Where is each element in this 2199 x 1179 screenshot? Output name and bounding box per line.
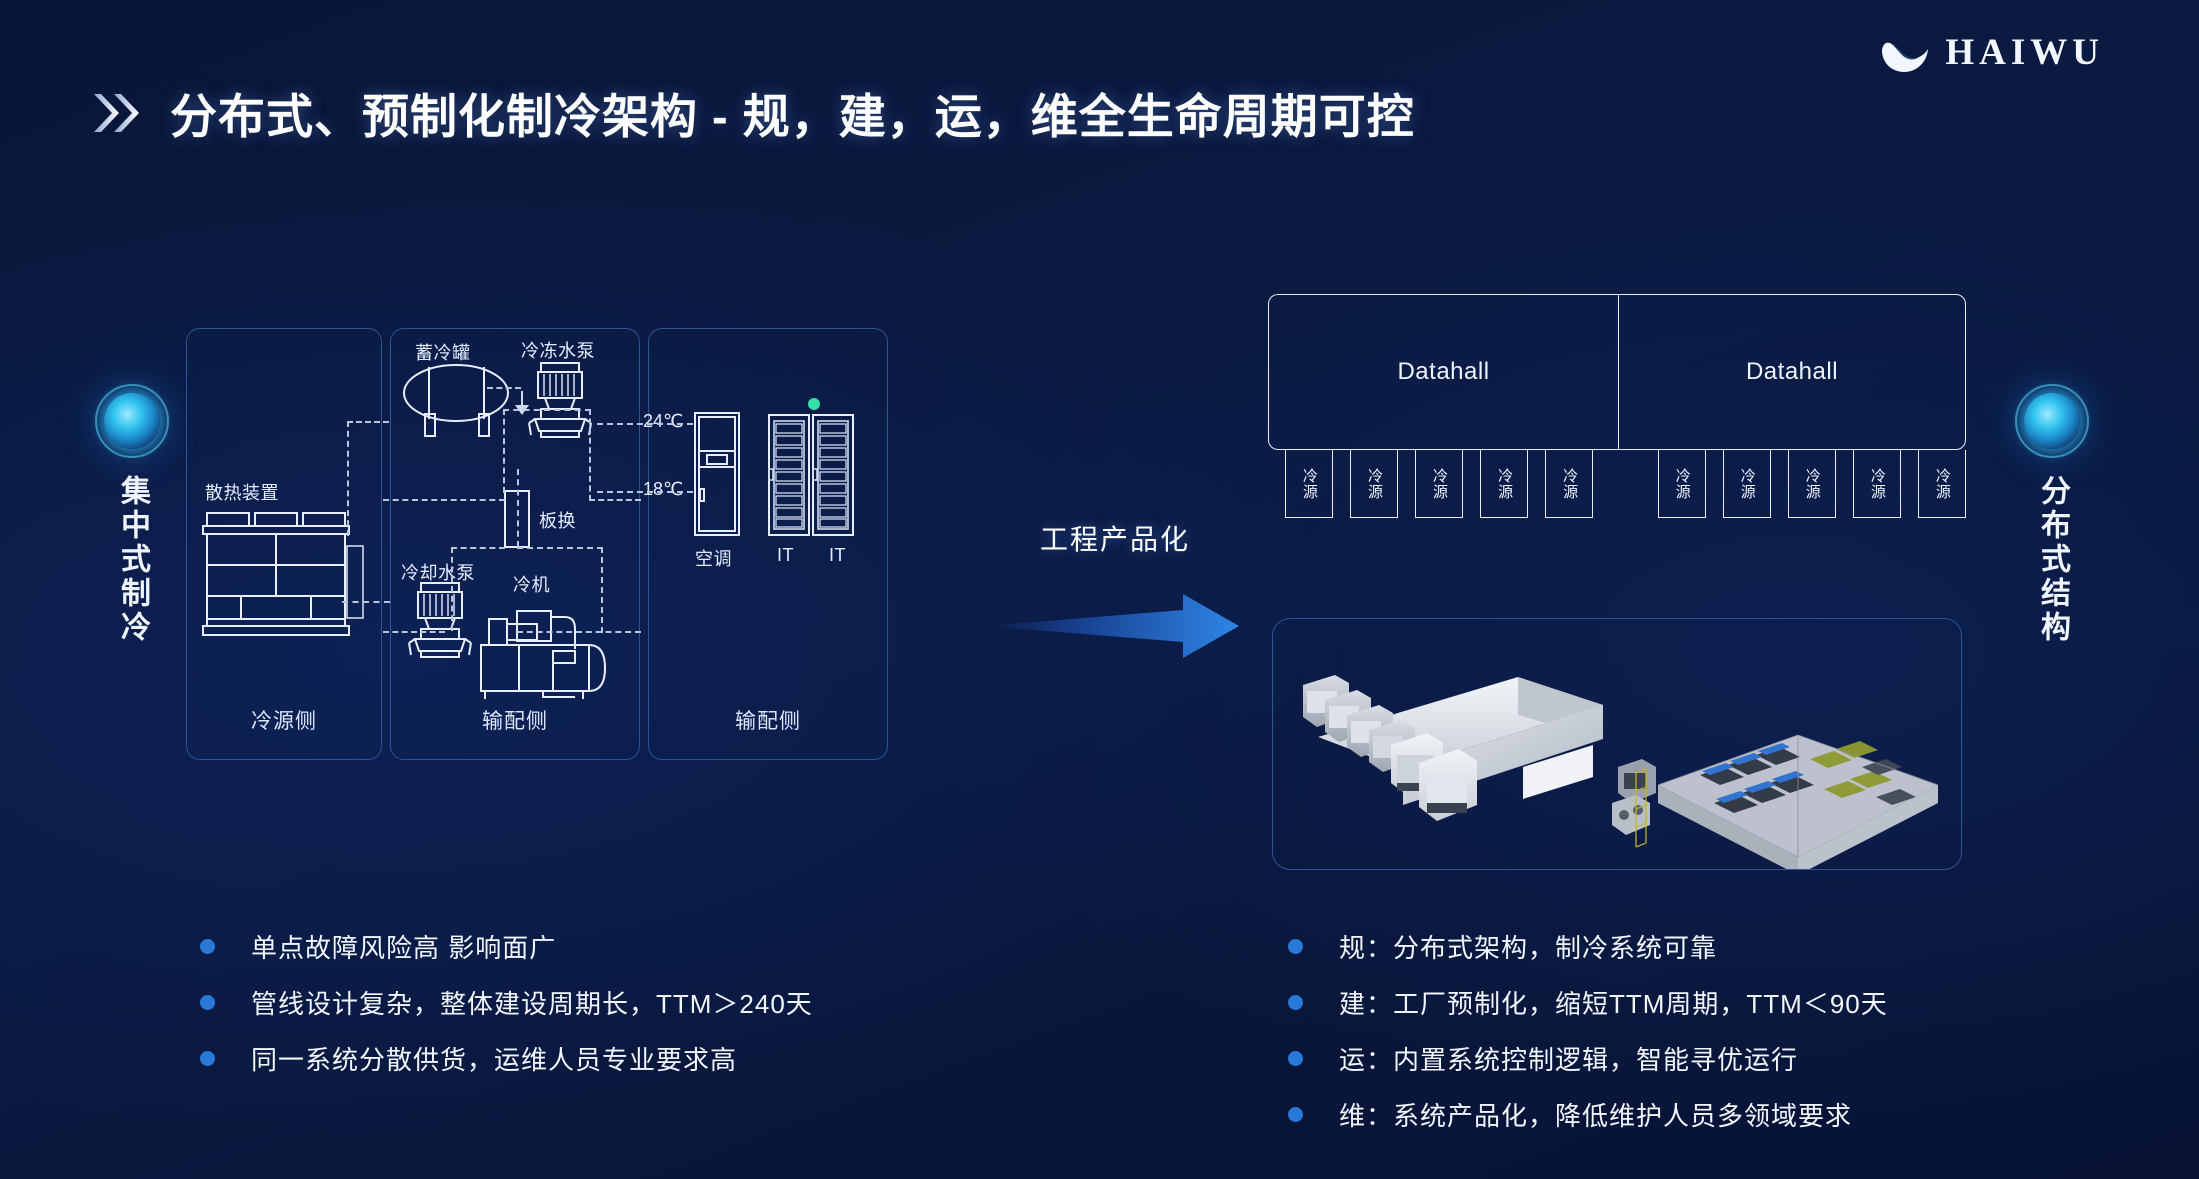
product-render-panel	[1272, 618, 1962, 870]
bullet-dot-icon	[1288, 939, 1303, 954]
pipe-dashed-vertical	[601, 547, 603, 633]
logo-text: HAIWU	[1945, 31, 2104, 74]
bullet-text: 同一系统分散供货，运维人员专业要求高	[251, 1040, 737, 1077]
list-item: 管线设计复杂，整体建设周期长，TTM＞240天	[200, 984, 813, 1021]
cooling-source-unit: 冷源	[1658, 450, 1706, 518]
cooling-source-unit: 冷源	[1723, 450, 1771, 518]
right-side-marker: 分布式结构	[1992, 393, 2112, 645]
equipment-label-it-rack-1: IT	[777, 545, 794, 566]
pipe-dashed-horizontal	[487, 387, 521, 389]
left-bullet-list: 单点故障风险高 影响面广 管线设计复杂，整体建设周期长，TTM＞240天 同一系…	[200, 928, 813, 1096]
distributed-architecture-diagram: Datahall Datahall 冷源 冷源 冷源 冷源 冷源 冷源 冷源 冷…	[1268, 294, 1966, 518]
cooling-source-unit: 冷源	[1350, 450, 1398, 518]
page-title-row: 分布式、预制化制冷架构 - 规，建，运，维全生命周期可控	[92, 78, 1415, 147]
pipe-dashed-horizontal	[517, 547, 603, 549]
brand-logo: HAIWU	[1879, 30, 2104, 74]
pipe-dashed-horizontal	[451, 547, 505, 549]
datahall-row: Datahall Datahall	[1268, 294, 1966, 450]
cooling-source-unit: 冷源	[1545, 450, 1593, 518]
double-chevron-right-icon	[92, 84, 144, 142]
haiwu-wave-logo-icon	[1879, 30, 1931, 74]
bullet-dot-icon	[200, 939, 215, 954]
list-item: 建：工厂预制化，缩短TTM周期，TTM＜90天	[1288, 984, 1888, 1021]
right-bullet-list: 规：分布式架构，制冷系统可靠 建：工厂预制化，缩短TTM周期，TTM＜90天 运…	[1288, 928, 1888, 1152]
pipe-dashed-horizontal	[383, 499, 505, 501]
slide-root: HAIWU 分布式、预制化制冷架构 - 规，建，运，维全生命周期可控 集中式制冷…	[0, 0, 2199, 1179]
list-item: 单点故障风险高 影响面广	[200, 928, 813, 965]
bullet-text: 建：工厂预制化，缩短TTM周期，TTM＜90天	[1339, 984, 1888, 1021]
list-item: 规：分布式架构，制冷系统可靠	[1288, 928, 1888, 965]
equipment-label-it-rack-2: IT	[829, 545, 846, 566]
temperature-return: 18℃	[643, 479, 683, 500]
pipe-dashed-horizontal	[503, 409, 591, 411]
pipe-dashed-horizontal	[589, 499, 641, 501]
gradient-arrow-right-icon	[985, 586, 1245, 666]
page-title: 分布式、预制化制冷架构 - 规，建，运，维全生命周期可控	[170, 78, 1415, 147]
panel-footer-label: 输配侧	[649, 705, 887, 735]
status-indicator-icon	[807, 397, 821, 411]
cooling-source-unit: 冷源	[1415, 450, 1463, 518]
centralized-cooling-schematic: 散热装置 冷源侧	[186, 328, 888, 760]
bullet-dot-icon	[1288, 995, 1303, 1010]
crac-unit-icon	[693, 411, 743, 539]
it-rack-icon	[767, 413, 811, 539]
temperature-supply: 24℃	[643, 411, 683, 432]
schematic-panel-distribution-2: 24℃ 18℃ 空调	[648, 328, 888, 760]
flow-arrow-down-icon	[511, 391, 539, 417]
pipe-dashed-vertical	[347, 421, 349, 536]
pipe-dashed-vertical	[503, 409, 505, 493]
cooling-source-unit: 冷源	[1853, 450, 1901, 518]
panel-footer-label: 输配侧	[391, 705, 639, 735]
transform-arrow-block: 工程产品化	[985, 518, 1245, 671]
bullet-dot-icon	[1288, 1051, 1303, 1066]
cooling-source-unit: 冷源	[1480, 450, 1528, 518]
left-side-label: 集中式制冷	[112, 475, 152, 645]
pipe-dashed-horizontal	[597, 423, 693, 425]
datahall-block: Datahall	[1618, 294, 1966, 450]
bullet-dot-icon	[1288, 1107, 1303, 1122]
schematic-panel-cold-source: 散热装置 冷源侧	[186, 328, 382, 760]
pipe-dashed-horizontal	[597, 491, 693, 493]
chiller-icon	[479, 591, 629, 701]
equipment-label-plate-exchanger: 板换	[539, 507, 576, 533]
cooling-water-pump-icon	[405, 581, 485, 667]
pipe-dashed-vertical	[451, 547, 453, 631]
transform-label: 工程产品化	[985, 518, 1245, 558]
bullet-dot-icon	[200, 995, 215, 1010]
pipe-dashed-horizontal	[517, 631, 641, 633]
modular-cooling-render-image	[1273, 619, 1962, 870]
cooling-source-row: 冷源 冷源 冷源 冷源 冷源 冷源 冷源 冷源 冷源 冷源	[1268, 450, 1966, 518]
bullet-dot-icon	[200, 1051, 215, 1066]
pipe-dashed-horizontal	[347, 421, 389, 423]
cooling-source-unit: 冷源	[1788, 450, 1836, 518]
equipment-label-chilled-water-pump: 冷冻水泵	[521, 337, 595, 363]
list-item: 维：系统产品化，降低维护人员多领域要求	[1288, 1096, 1888, 1133]
cooling-source-unit: 冷源	[1285, 450, 1333, 518]
datahall-block: Datahall	[1268, 294, 1618, 450]
glow-dot-icon	[2024, 393, 2080, 449]
bullet-text: 单点故障风险高 影响面广	[251, 928, 556, 965]
bullet-text: 管线设计复杂，整体建设周期长，TTM＞240天	[251, 984, 813, 1021]
pipe-dashed-horizontal	[342, 601, 390, 603]
list-item: 运：内置系统控制逻辑，智能寻优运行	[1288, 1040, 1888, 1077]
right-side-label: 分布式结构	[2032, 475, 2072, 645]
cooling-source-unit: 冷源	[1918, 450, 1966, 518]
it-rack-icon	[811, 413, 855, 539]
pipe-dashed-horizontal	[383, 631, 445, 633]
left-side-marker: 集中式制冷	[72, 393, 192, 645]
list-item: 同一系统分散供货，运维人员专业要求高	[200, 1040, 813, 1077]
pipe-dashed-vertical	[517, 469, 519, 547]
bullet-text: 运：内置系统控制逻辑，智能寻优运行	[1339, 1040, 1798, 1077]
panel-footer-label: 冷源侧	[187, 705, 381, 735]
pipe-dashed-vertical	[589, 409, 591, 501]
schematic-panel-distribution-1: 蓄冷罐 冷冻水泵	[390, 328, 640, 760]
equipment-label-crac: 空调	[695, 545, 732, 571]
glow-dot-icon	[104, 393, 160, 449]
bullet-text: 维：系统产品化，降低维护人员多领域要求	[1339, 1096, 1852, 1133]
bullet-text: 规：分布式架构，制冷系统可靠	[1339, 928, 1717, 965]
